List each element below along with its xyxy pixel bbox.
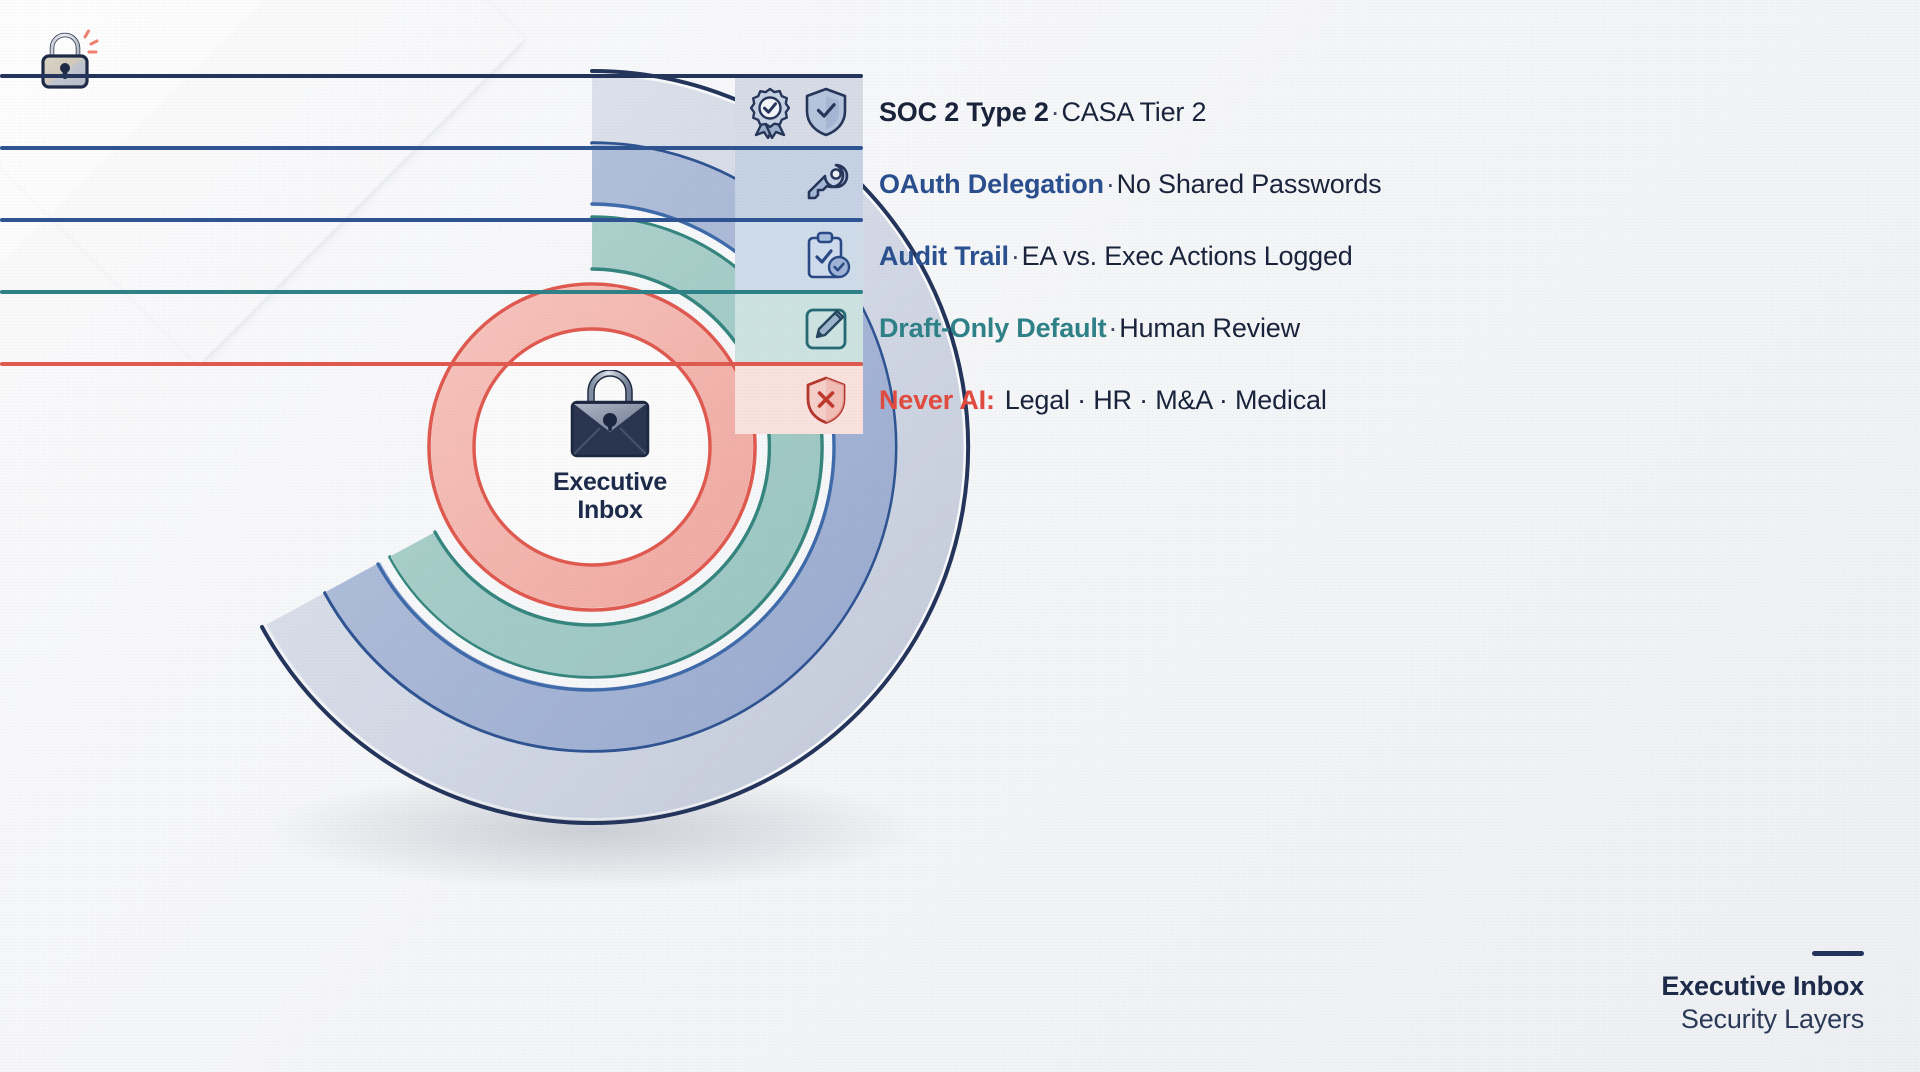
center-hub: Executive Inbox (520, 370, 700, 524)
layer-3-sep: · (1009, 241, 1022, 271)
layer-row-5[interactable]: Never AI:Legal · HR · M&A · Medical (735, 366, 1327, 434)
layer-3-title: Audit Trail (879, 241, 1009, 271)
layer-2-title: OAuth Delegation (879, 169, 1104, 199)
layer-2-detail: No Shared Passwords (1117, 169, 1382, 199)
brand-rule (1812, 951, 1864, 956)
layer-legend-list: SOC 2 Type 2·CASA Tier 2 OAuth Delegatio… (735, 0, 1920, 1072)
layer-2-label: OAuth Delegation·No Shared Passwords (879, 169, 1381, 200)
layer-4-detail: Human Review (1119, 313, 1300, 343)
layer-1-detail: CASA Tier 2 (1061, 97, 1206, 127)
layer-4-icon-chip (735, 294, 863, 362)
layer-4-title: Draft-Only Default (879, 313, 1106, 343)
hub-label-line1: Executive (520, 468, 700, 496)
layer-5-title: Never AI: (879, 385, 995, 415)
layer-3-label: Audit Trail·EA vs. Exec Actions Logged (879, 241, 1353, 272)
layer-3-icon-chip (735, 222, 863, 290)
layer-1-title: SOC 2 Type 2 (879, 97, 1049, 127)
clipboard-check-icon (799, 229, 853, 283)
shield-x-icon (799, 373, 853, 427)
layer-1-label: SOC 2 Type 2·CASA Tier 2 (879, 97, 1206, 128)
layer-2-sep: · (1104, 169, 1117, 199)
certificate-rosette-icon (743, 85, 797, 139)
key-icon (799, 157, 853, 211)
layer-1-sep: · (1049, 97, 1062, 127)
layer-1-icon-chip (735, 78, 863, 146)
hub-label-line2: Inbox (520, 496, 700, 524)
layer-5-icon-chip (735, 366, 863, 434)
layer-4-label: Draft-Only Default·Human Review (879, 313, 1300, 344)
layer-5-label: Never AI:Legal · HR · M&A · Medical (879, 385, 1327, 416)
layer-row-2[interactable]: OAuth Delegation·No Shared Passwords (735, 150, 1381, 218)
layer-row-4[interactable]: Draft-Only Default·Human Review (735, 294, 1300, 362)
padlock-icon (30, 24, 100, 94)
brand-subtitle: Security Layers (1661, 1003, 1864, 1036)
layer-4-sep: · (1106, 313, 1119, 343)
layer-3-detail: EA vs. Exec Actions Logged (1022, 241, 1353, 271)
layer-5-detail: Legal · HR · M&A · Medical (1005, 385, 1327, 415)
layer-row-1[interactable]: SOC 2 Type 2·CASA Tier 2 (735, 78, 1206, 146)
layer-row-3[interactable]: Audit Trail·EA vs. Exec Actions Logged (735, 222, 1353, 290)
locked-envelope-icon (560, 370, 660, 462)
brand-block: Executive Inbox Security Layers (1661, 951, 1864, 1036)
shield-check-icon (799, 85, 853, 139)
brand-title: Executive Inbox (1661, 970, 1864, 1003)
layer-2-icon-chip (735, 150, 863, 218)
layer-5-sep (995, 385, 999, 415)
pencil-square-icon (799, 301, 853, 355)
